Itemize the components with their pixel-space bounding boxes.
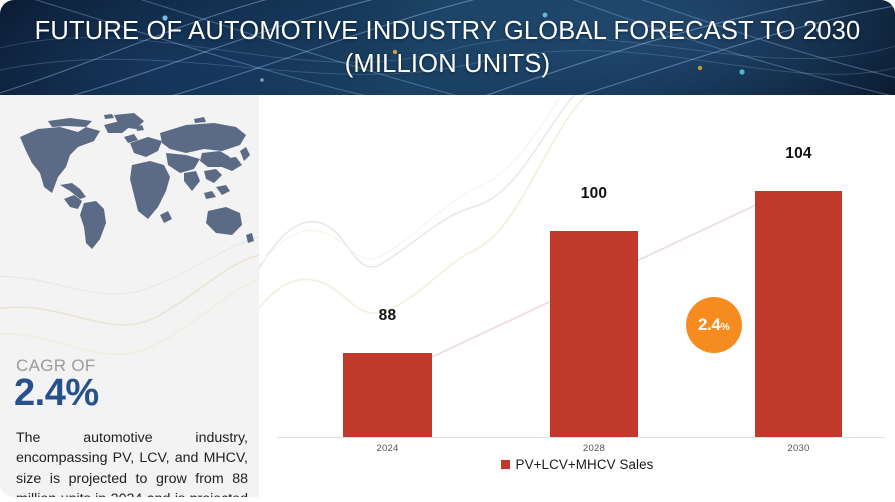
cagr-badge-percent: % [721, 299, 730, 355]
cagr-value: 2.4% [14, 372, 99, 414]
bar-group-2028: 100 [550, 159, 638, 437]
x-axis-label-2024: 2024 [343, 443, 432, 454]
cagr-badge: 2.4% [686, 297, 742, 353]
cagr-badge-value: 2.4 [698, 297, 720, 353]
x-axis-label-2028: 2028 [550, 443, 638, 454]
world-map-icon [8, 107, 256, 257]
bar-group-2024: 88 [343, 159, 432, 437]
chart-panel: 88 100 104 2024 2028 2030 2.4% PV+ [259, 95, 895, 502]
bar-value-2024: 88 [343, 307, 432, 325]
bar-value-2028: 100 [550, 185, 638, 203]
plot-area: 88 100 104 2024 2028 2030 2.4% PV+ [259, 95, 895, 502]
bar-2028[interactable] [550, 231, 638, 437]
header-banner: FUTURE OF AUTOMOTIVE INDUSTRY GLOBAL FOR… [0, 0, 895, 95]
page-title-line1: FUTURE OF AUTOMOTIVE INDUSTRY GLOBAL FOR… [35, 15, 861, 48]
sidebar-panel: CAGR OF 2.4% The automotive industry, en… [0, 95, 259, 497]
bar-2030[interactable] [755, 191, 842, 437]
legend-label: PV+LCV+MHCV Sales [516, 457, 654, 472]
legend-swatch-icon [501, 460, 510, 469]
chart-legend: PV+LCV+MHCV Sales [259, 457, 895, 472]
infographic-page: FUTURE OF AUTOMOTIVE INDUSTRY GLOBAL FOR… [0, 0, 895, 502]
sidebar-description: The automotive industry, encompassing PV… [16, 428, 248, 497]
bar-2024[interactable] [343, 353, 432, 437]
axis-baseline [277, 437, 885, 438]
page-title-line2: (MILLION UNITS) [345, 48, 551, 81]
world-map-svg [8, 107, 256, 257]
bar-group-2030: 104 [755, 159, 842, 437]
x-axis-label-2030: 2030 [755, 443, 842, 454]
header-title-block: FUTURE OF AUTOMOTIVE INDUSTRY GLOBAL FOR… [0, 0, 895, 95]
bar-value-2030: 104 [755, 145, 842, 163]
